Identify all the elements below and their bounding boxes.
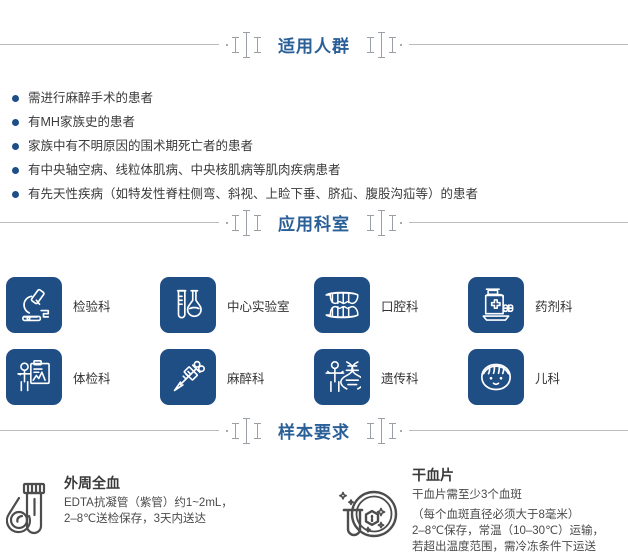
sample-line: （每个血斑直径必须大于8毫米） — [412, 507, 604, 523]
ibeam-mark-icon — [367, 37, 374, 53]
ibeam-mark-icon — [378, 210, 385, 236]
sample-description: EDTA抗凝管（紫管）约1~2mL， 2–8℃送检保存，3天内送达 — [64, 495, 233, 527]
ibeam-mark-icon — [232, 37, 239, 53]
section-audience: 适用人群 需进行麻醉手术的患者 有MH家族史的患者 家族中有不明原因的围术期死亡… — [0, 18, 628, 209]
ibeam-mark-icon — [389, 215, 396, 231]
ibeam-mark-icon — [243, 32, 250, 58]
ibeam-mark-icon — [378, 418, 385, 444]
teeth-icon — [314, 277, 370, 333]
section-header-audience: 适用人群 — [0, 18, 628, 71]
ornament-right — [360, 32, 409, 58]
section-header-departments: 应用科室 — [0, 196, 628, 249]
department-item-pediatrics[interactable]: 儿科 — [468, 341, 622, 413]
section-departments: 应用科室 检验科 — [0, 196, 628, 413]
list-item-label: 家族中有不明原因的围术期死亡者的患者 — [28, 137, 253, 156]
sample-text-block: 外周全血 EDTA抗凝管（紫管）约1~2mL， 2–8℃送检保存，3天内送达 — [56, 473, 233, 527]
ibeam-mark-icon — [378, 32, 385, 58]
department-grid: 检验科 中心实验室 — [0, 249, 628, 413]
sample-line: 2–8℃送检保存，3天内送达 — [64, 511, 233, 527]
divider-line-right — [409, 430, 628, 431]
bullet-dot-icon — [12, 143, 19, 150]
ornament-dot-icon — [226, 44, 228, 46]
list-item: 家族中有不明原因的围术期死亡者的患者 — [12, 137, 628, 156]
department-item-lab[interactable]: 检验科 — [6, 269, 160, 341]
ornament-dot-icon — [400, 430, 402, 432]
ornament-dot-icon — [226, 222, 228, 224]
ibeam-mark-icon — [389, 37, 396, 53]
sample-line: 2–8℃保存，常温（10–30℃）运输， — [412, 523, 604, 539]
department-label: 遗传科 — [381, 368, 419, 387]
sample-line: 若超出温度范围，需冷冻条件下运送 — [412, 539, 604, 555]
divider-line-right — [409, 222, 628, 223]
department-item-dental[interactable]: 口腔科 — [314, 269, 468, 341]
child-face-icon — [468, 349, 524, 405]
dna-person-icon — [314, 349, 370, 405]
sample-text-block: 干血片 干血片需至少3个血斑 （每个血斑直径必须大于8毫米） 2–8℃保存，常温… — [402, 465, 604, 555]
department-label: 儿科 — [535, 368, 560, 387]
sample-item-dried-blood-spot: 干血片 干血片需至少3个血斑 （每个血斑直径必须大于8毫米） 2–8℃保存，常温… — [336, 473, 628, 555]
ibeam-mark-icon — [254, 37, 261, 53]
page-title-samples: 样本要求 — [268, 418, 360, 443]
ibeam-mark-icon — [232, 423, 239, 439]
blood-tube-icon — [6, 481, 56, 543]
department-label: 检验科 — [73, 296, 111, 315]
department-label: 口腔科 — [381, 296, 419, 315]
divider-line-left — [0, 44, 219, 45]
department-label: 麻醉科 — [227, 368, 265, 387]
medicine-bottle-icon — [468, 277, 524, 333]
sample-row: 外周全血 EDTA抗凝管（紫管）约1~2mL， 2–8℃送检保存，3天内送达 — [0, 457, 628, 555]
department-item-anesthesiology[interactable]: 麻醉科 — [160, 341, 314, 413]
divider-line-left — [0, 222, 219, 223]
section-header-samples: 样本要求 — [0, 404, 628, 457]
ibeam-mark-icon — [243, 210, 250, 236]
bullet-dot-icon — [12, 167, 19, 174]
list-item-label: 有中央轴空病、线粒体肌病、中央核肌病等肌肉疾病患者 — [28, 161, 341, 180]
sample-item-whole-blood: 外周全血 EDTA抗凝管（紫管）约1~2mL， 2–8℃送检保存，3天内送达 — [0, 473, 336, 555]
list-item-label: 需进行麻醉手术的患者 — [28, 89, 153, 108]
bullet-dot-icon — [12, 95, 19, 102]
department-label: 中心实验室 — [227, 296, 290, 315]
microscope-icon — [6, 277, 62, 333]
ibeam-mark-icon — [389, 423, 396, 439]
divider-line-right — [409, 44, 628, 45]
sample-line: 干血片需至少3个血斑 — [412, 487, 604, 503]
ibeam-mark-icon — [367, 215, 374, 231]
department-item-physical-exam[interactable]: 体检科 — [6, 341, 160, 413]
ornament-left — [219, 418, 268, 444]
ornament-left — [219, 210, 268, 236]
ibeam-mark-icon — [254, 215, 261, 231]
list-item: 有中央轴空病、线粒体肌病、中央核肌病等肌肉疾病患者 — [12, 161, 628, 180]
ibeam-mark-icon — [232, 215, 239, 231]
bullet-dot-icon — [12, 119, 19, 126]
list-item: 需进行麻醉手术的患者 — [12, 89, 628, 108]
department-item-genetics[interactable]: 遗传科 — [314, 341, 468, 413]
checkup-chart-icon — [6, 349, 62, 405]
sample-title: 外周全血 — [64, 473, 233, 493]
ornament-right — [360, 210, 409, 236]
ibeam-mark-icon — [254, 423, 261, 439]
ornament-dot-icon — [226, 430, 228, 432]
dried-blood-spot-icon — [336, 481, 402, 547]
page-title-audience: 适用人群 — [268, 32, 360, 57]
ibeam-mark-icon — [243, 418, 250, 444]
sample-description: 干血片需至少3个血斑 （每个血斑直径必须大于8毫米） 2–8℃保存，常温（10–… — [412, 487, 604, 555]
ornament-right — [360, 418, 409, 444]
ornament-left — [219, 32, 268, 58]
list-item-label: 有MH家族史的患者 — [28, 113, 135, 132]
department-label: 药剂科 — [535, 296, 573, 315]
department-item-pharmacy[interactable]: 药剂科 — [468, 269, 622, 341]
flask-testtube-icon — [160, 277, 216, 333]
ibeam-mark-icon — [367, 423, 374, 439]
department-label: 体检科 — [73, 368, 111, 387]
ornament-dot-icon — [400, 222, 402, 224]
sample-line: EDTA抗凝管（紫管）约1~2mL， — [64, 495, 233, 511]
ornament-dot-icon — [400, 44, 402, 46]
divider-line-left — [0, 430, 219, 431]
syringe-icon — [160, 349, 216, 405]
section-sample-requirements: 样本要求 外周全血 — [0, 404, 628, 555]
department-item-central-lab[interactable]: 中心实验室 — [160, 269, 314, 341]
audience-bullet-list: 需进行麻醉手术的患者 有MH家族史的患者 家族中有不明原因的围术期死亡者的患者 … — [0, 71, 628, 204]
sample-title: 干血片 — [412, 465, 604, 485]
list-item: 有MH家族史的患者 — [12, 113, 628, 132]
page-title-departments: 应用科室 — [268, 210, 360, 235]
